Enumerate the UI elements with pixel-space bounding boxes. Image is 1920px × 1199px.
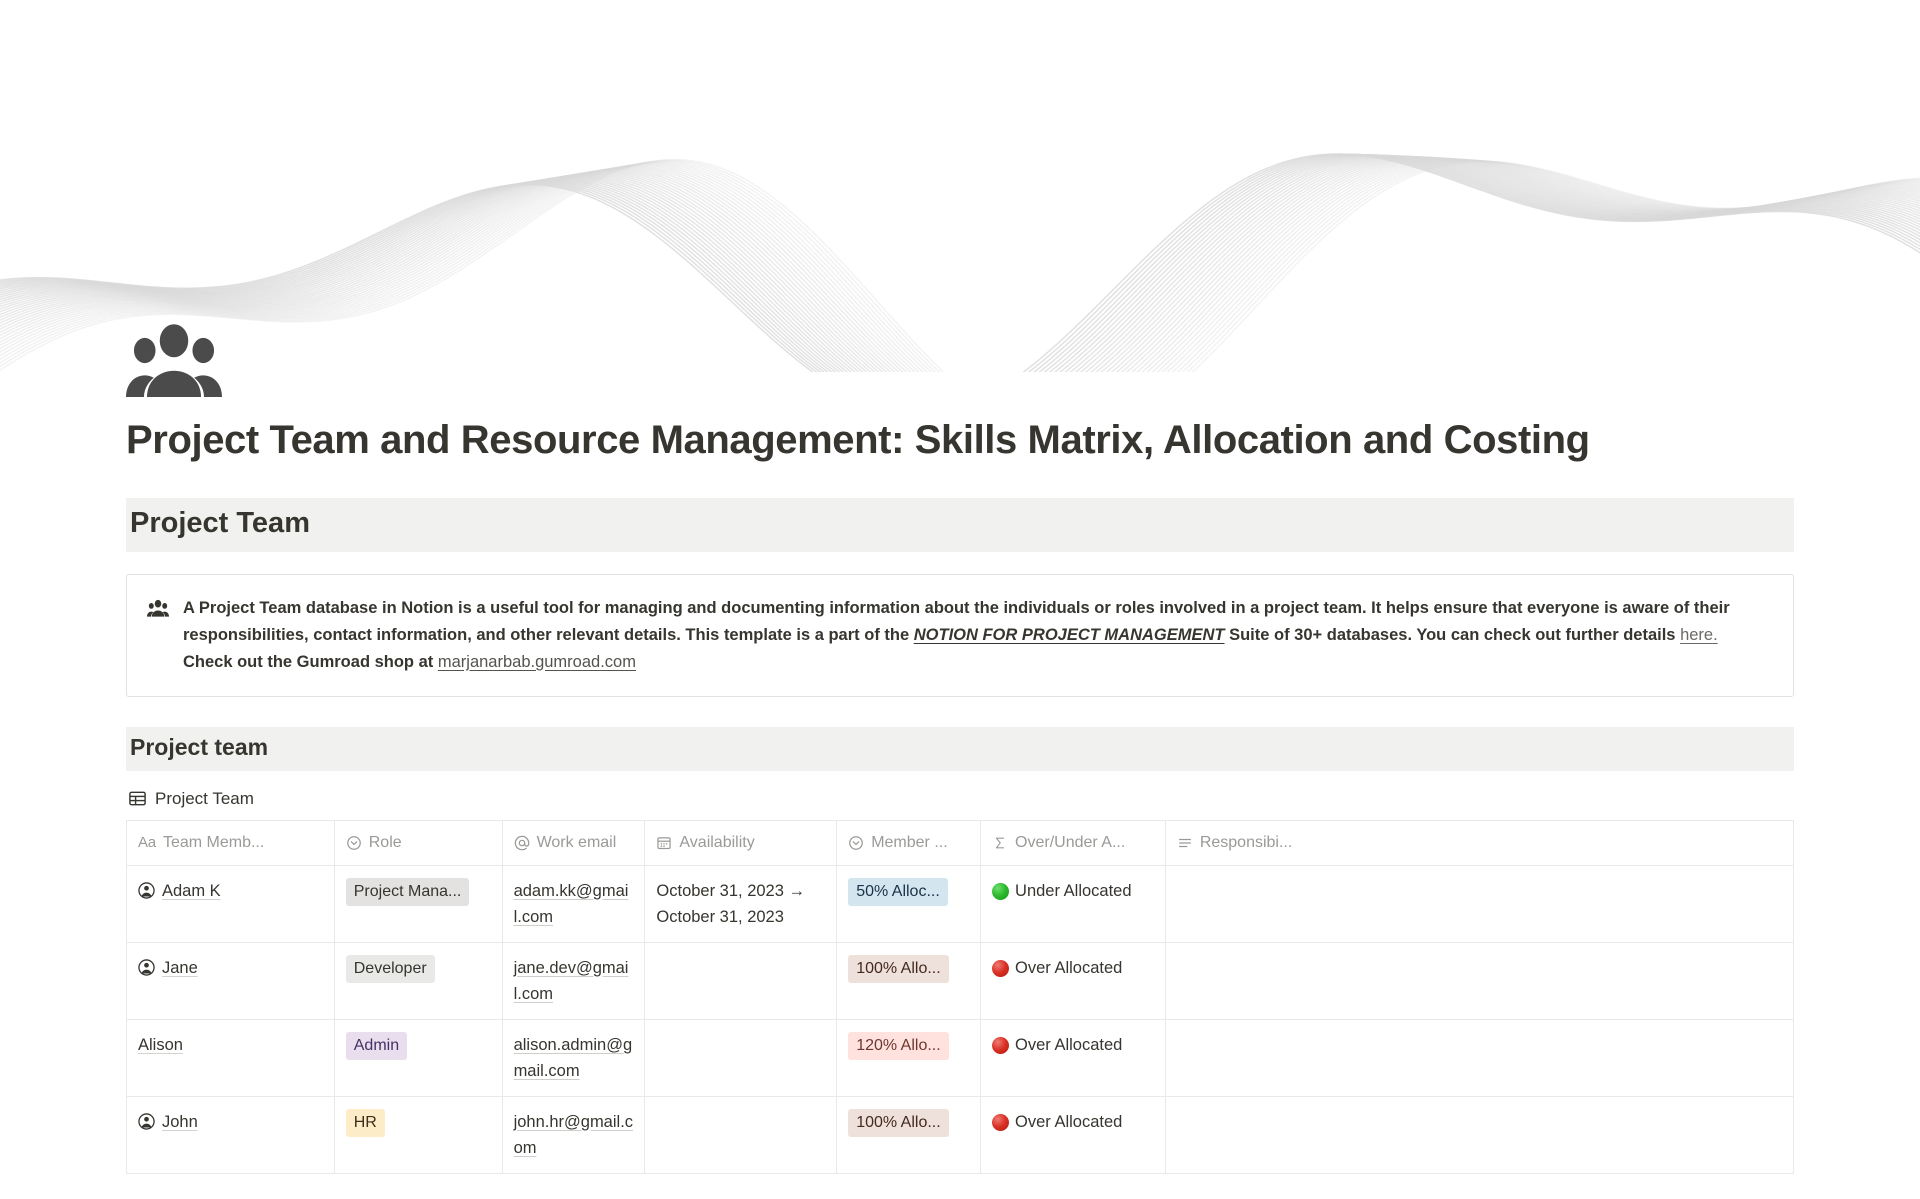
- status-dot-red: [992, 960, 1009, 977]
- work-email-link[interactable]: jane.dev@gmail.com: [514, 959, 629, 1003]
- database-title[interactable]: Project Team: [126, 789, 1794, 809]
- column-header-label: Availability: [679, 830, 754, 856]
- status-badge: Over Allocated: [1015, 955, 1122, 981]
- callout-text-part-3: Check out the Gumroad shop at: [183, 653, 438, 671]
- status-dot-red: [992, 1037, 1009, 1054]
- cell-team-member[interactable]: Alison: [127, 1020, 335, 1096]
- team-member-name[interactable]: Adam K: [162, 878, 221, 904]
- table-row[interactable]: JaneDeveloperjane.dev@gmail.com100% Allo…: [127, 943, 1793, 1020]
- allocation-tag: 100% Allo...: [848, 955, 949, 983]
- select-circle-icon: [848, 835, 864, 851]
- section-heading-project-team-sub: Project team: [126, 727, 1794, 771]
- table-body: Adam KProject Mana...adam.kk@gmail.comOc…: [127, 866, 1793, 1174]
- at-sign-icon: [514, 835, 530, 851]
- cell-work-email[interactable]: adam.kk@gmail.com: [503, 866, 646, 942]
- allocation-tag: 100% Allo...: [848, 1109, 949, 1137]
- column-header-label: Work email: [537, 830, 617, 856]
- cover-banner: [0, 0, 1920, 372]
- column-header-label: Member ...: [871, 830, 947, 856]
- cell-team-member[interactable]: Adam K: [127, 866, 335, 942]
- cell-team-member[interactable]: Jane: [127, 943, 335, 1019]
- link-gumroad-shop[interactable]: marjanarbab.gumroad.com: [438, 653, 636, 671]
- person-avatar-icon: [138, 959, 155, 976]
- text-lines-icon: [1177, 835, 1193, 851]
- cell-responsibilities[interactable]: [1166, 1020, 1793, 1096]
- cell-responsibilities[interactable]: [1166, 1097, 1793, 1173]
- status-badge: Over Allocated: [1015, 1109, 1122, 1135]
- role-tag: Developer: [346, 955, 435, 983]
- column-header-label: Role: [369, 830, 402, 856]
- column-header-role[interactable]: Role: [335, 821, 503, 865]
- column-header-responsibilities[interactable]: Responsibi...: [1166, 821, 1793, 865]
- cell-over-under-allocation[interactable]: Over Allocated: [981, 1020, 1166, 1096]
- cell-availability[interactable]: [645, 1020, 837, 1096]
- allocation-tag: 50% Alloc...: [848, 878, 948, 906]
- role-tag: Admin: [346, 1032, 407, 1060]
- cell-work-email[interactable]: alison.admin@gmail.com: [503, 1020, 646, 1096]
- cell-member-allocation[interactable]: 100% Allo...: [837, 943, 981, 1019]
- team-member-name[interactable]: Alison: [138, 1032, 183, 1058]
- cell-role[interactable]: HR: [335, 1097, 503, 1173]
- cell-team-member[interactable]: John: [127, 1097, 335, 1173]
- link-notion-for-project-management[interactable]: NOTION FOR PROJECT MANAGEMENT: [914, 626, 1225, 644]
- status-badge: Over Allocated: [1015, 1032, 1122, 1058]
- status-dot-red: [992, 1114, 1009, 1131]
- column-header-label: Responsibi...: [1200, 830, 1293, 856]
- cell-member-allocation[interactable]: 120% Allo...: [837, 1020, 981, 1096]
- work-email-link[interactable]: john.hr@gmail.com: [514, 1113, 633, 1157]
- work-email-link[interactable]: adam.kk@gmail.com: [514, 882, 629, 926]
- callout-text-part-2: Suite of 30+ databases. You can check ou…: [1225, 626, 1681, 644]
- project-team-table: Aa Team Memb... Role Work email Availab: [126, 820, 1794, 1174]
- cell-role[interactable]: Developer: [335, 943, 503, 1019]
- column-header-team-member[interactable]: Aa Team Memb...: [127, 821, 335, 865]
- column-header-label: Over/Under A...: [1015, 830, 1125, 856]
- cell-responsibilities[interactable]: [1166, 943, 1793, 1019]
- column-header-label: Team Memb...: [163, 830, 264, 856]
- role-tag: Project Mana...: [346, 878, 470, 906]
- cell-role[interactable]: Admin: [335, 1020, 503, 1096]
- cell-responsibilities[interactable]: [1166, 866, 1793, 942]
- status-dot-green: [992, 883, 1009, 900]
- cell-role[interactable]: Project Mana...: [335, 866, 503, 942]
- cell-availability[interactable]: October 31, 2023 → October 31, 2023: [645, 866, 837, 942]
- table-row[interactable]: AlisonAdminalison.admin@gmail.com120% Al…: [127, 1020, 1793, 1097]
- page-title: Project Team and Resource Management: Sk…: [126, 372, 1794, 464]
- cell-over-under-allocation[interactable]: Under Allocated: [981, 866, 1166, 942]
- people-group-icon: [147, 598, 169, 620]
- table-row[interactable]: Adam KProject Mana...adam.kk@gmail.comOc…: [127, 866, 1793, 943]
- calendar-date-icon: [656, 835, 672, 851]
- cell-work-email[interactable]: john.hr@gmail.com: [503, 1097, 646, 1173]
- column-header-availability[interactable]: Availability: [645, 821, 837, 865]
- select-circle-icon: [346, 835, 362, 851]
- callout-text: A Project Team database in Notion is a u…: [183, 595, 1771, 676]
- link-here[interactable]: here.: [1680, 626, 1718, 644]
- column-header-over-under-allocation[interactable]: Over/Under A...: [981, 821, 1166, 865]
- section-heading-project-team: Project Team: [126, 498, 1794, 552]
- status-badge: Under Allocated: [1015, 878, 1132, 904]
- team-member-name[interactable]: Jane: [162, 955, 198, 981]
- person-avatar-icon: [138, 1113, 155, 1130]
- database-title-label: Project Team: [155, 789, 254, 809]
- title-aa-icon: Aa: [138, 830, 156, 856]
- page-icon[interactable]: [126, 316, 222, 412]
- table-row[interactable]: JohnHRjohn.hr@gmail.com100% Allo...Over …: [127, 1097, 1793, 1174]
- column-header-member-allocation[interactable]: Member ...: [837, 821, 981, 865]
- cell-member-allocation[interactable]: 50% Alloc...: [837, 866, 981, 942]
- allocation-tag: 120% Allo...: [848, 1032, 949, 1060]
- column-header-work-email[interactable]: Work email: [503, 821, 646, 865]
- person-avatar-icon: [138, 882, 155, 899]
- work-email-link[interactable]: alison.admin@gmail.com: [514, 1036, 633, 1080]
- cell-member-allocation[interactable]: 100% Allo...: [837, 1097, 981, 1173]
- cell-over-under-allocation[interactable]: Over Allocated: [981, 1097, 1166, 1173]
- page-content: Project Team and Resource Management: Sk…: [0, 372, 1920, 1174]
- cell-work-email[interactable]: jane.dev@gmail.com: [503, 943, 646, 1019]
- sigma-formula-icon: [992, 835, 1008, 851]
- table-grid-icon: [128, 789, 147, 808]
- callout-block: A Project Team database in Notion is a u…: [126, 574, 1794, 697]
- role-tag: HR: [346, 1109, 385, 1137]
- cell-availability[interactable]: [645, 943, 837, 1019]
- cell-over-under-allocation[interactable]: Over Allocated: [981, 943, 1166, 1019]
- team-member-name[interactable]: John: [162, 1109, 198, 1135]
- cell-availability[interactable]: [645, 1097, 837, 1173]
- table-header-row: Aa Team Memb... Role Work email Availab: [127, 821, 1793, 866]
